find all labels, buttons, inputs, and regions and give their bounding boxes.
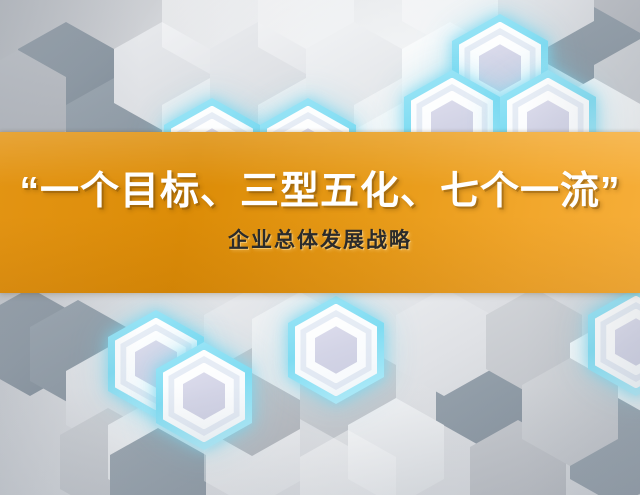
glowing-hexagon — [156, 342, 252, 450]
glowing-hexagon — [588, 288, 640, 396]
title-banner: “一个目标、三型五化、七个一流” 企业总体发展战略 — [0, 132, 640, 293]
slide-subtitle: 企业总体发展战略 — [228, 229, 412, 252]
slide-title: “一个目标、三型五化、七个一流” — [19, 172, 620, 213]
presentation-slide: “一个目标、三型五化、七个一流” 企业总体发展战略 — [0, 0, 640, 495]
glowing-hexagon — [288, 296, 384, 404]
